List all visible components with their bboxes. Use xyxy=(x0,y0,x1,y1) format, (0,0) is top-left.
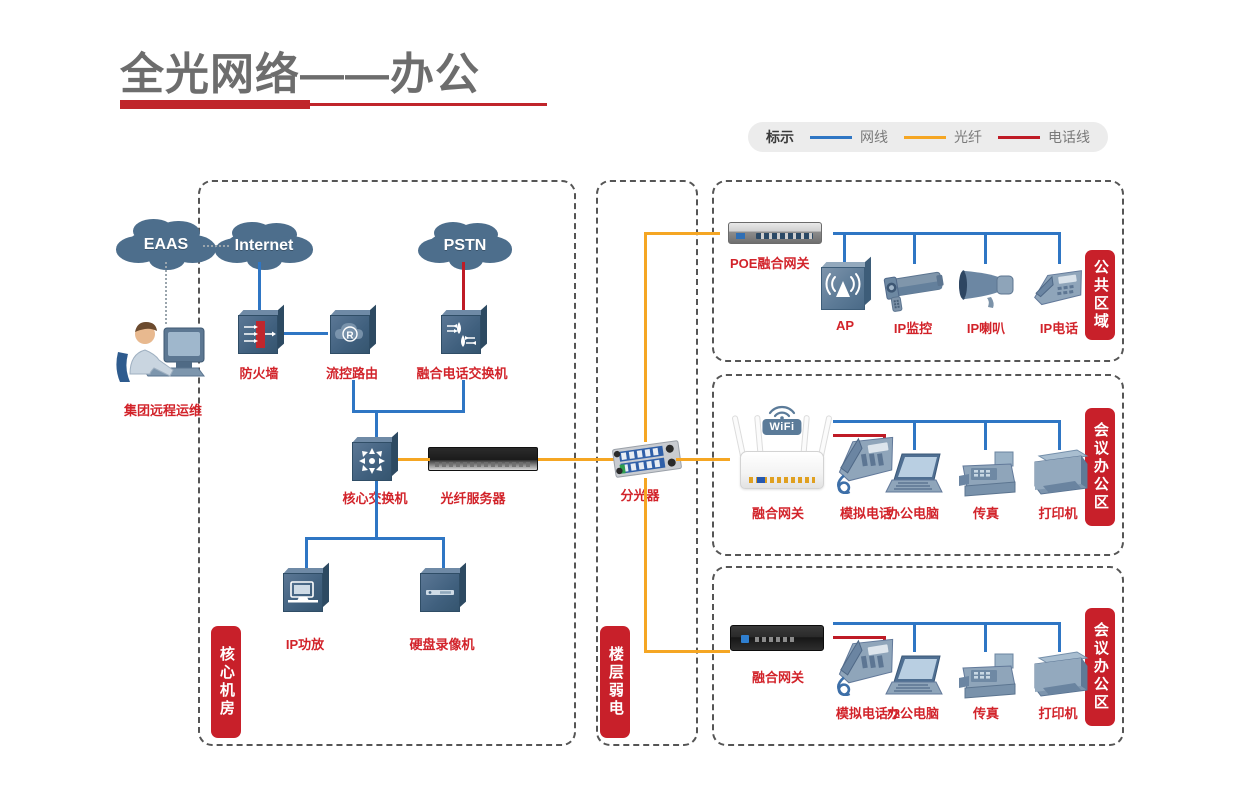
legend-swatch-ethernet xyxy=(810,136,852,139)
legend-item-fiber: 光纤 xyxy=(904,127,982,147)
ip-phone-icon xyxy=(1028,268,1090,314)
nvr-icon xyxy=(420,568,466,612)
laptop-icon xyxy=(880,450,948,498)
fiber-splitter-up xyxy=(644,232,647,442)
label-ap: AP xyxy=(836,318,854,333)
zone2-drop-pc xyxy=(913,420,916,450)
zone3-bus xyxy=(833,622,1061,625)
svg-text:R: R xyxy=(346,331,354,342)
zone1-drop-speak xyxy=(984,232,987,264)
badge-floor-weak-text: 楼层弱电 xyxy=(606,646,624,718)
badge-public-area-text: 公共区域 xyxy=(1091,259,1109,331)
zone1-drop-phone xyxy=(1058,232,1061,264)
link-pstn-phoneswitch xyxy=(462,262,465,310)
fiber-up-to-poe xyxy=(644,232,720,235)
firewall-icon xyxy=(238,310,284,354)
label-ip-phone: IP电话 xyxy=(1040,318,1078,337)
cloud-internet: Internet xyxy=(226,230,302,262)
fiber-server-splitter xyxy=(538,458,620,461)
zone2-bus xyxy=(833,420,1061,423)
label-remote-operator: 集团远程运维 xyxy=(124,400,202,419)
legend-label-ethernet: 网线 xyxy=(860,127,888,147)
legend-swatch-phone xyxy=(998,136,1040,139)
gateway-led xyxy=(741,635,749,643)
link-bus-ipamp xyxy=(305,537,308,570)
zone1-drop-cam xyxy=(913,232,916,264)
ip-amplifier-icon xyxy=(283,568,329,612)
cloud-pstn-label: PSTN xyxy=(444,237,487,255)
label-fiber-server: 光纤服务器 xyxy=(440,488,505,507)
title-underline-thick xyxy=(120,100,310,109)
core-switch-icon xyxy=(352,437,398,481)
fax-icon xyxy=(955,450,1021,498)
optical-splitter-icon xyxy=(610,440,684,478)
label-nvr: 硬盘录像机 xyxy=(409,634,474,653)
gateway-ports xyxy=(755,637,795,642)
legend-item-phone: 电话线 xyxy=(998,127,1090,147)
rack-ports xyxy=(435,462,531,467)
link-coreswitch-down xyxy=(375,481,378,539)
router-icon: R xyxy=(330,310,376,354)
label-firewall: 防火墙 xyxy=(239,363,278,382)
router-glyph: R xyxy=(330,315,370,354)
fiber-server-icon xyxy=(428,447,538,471)
cube-side xyxy=(392,432,398,476)
fusion-gateway-icon xyxy=(730,625,824,651)
cube-side xyxy=(370,305,376,349)
diagram-canvas: 全光网络——办公 标示 网线 光纤 电话线 核心机房 楼层弱电 公共区域 会议办… xyxy=(0,0,1238,796)
badge-meeting-area-2-text: 会议办公区 xyxy=(1091,622,1109,712)
core-switch-glyph xyxy=(352,442,392,481)
poe-gateway-icon xyxy=(728,222,822,244)
ip-speaker-icon xyxy=(955,262,1019,312)
laptop-icon xyxy=(880,652,948,700)
poe-ports xyxy=(756,233,813,239)
cube-side xyxy=(323,563,329,607)
fiber-splitter-down xyxy=(644,478,647,653)
badge-core-room-text: 核心机房 xyxy=(217,646,235,718)
legend-item-ethernet: 网线 xyxy=(810,127,888,147)
label-office-pc-z3: 办公电脑 xyxy=(887,703,939,722)
zone3-drop-pc xyxy=(913,622,916,652)
cube-side xyxy=(460,563,466,607)
cloud-internet-label: Internet xyxy=(235,237,294,255)
printer-icon xyxy=(1025,646,1093,700)
cloud-eaas-label: EAAS xyxy=(144,236,188,254)
cube-side xyxy=(865,257,871,305)
router-body xyxy=(740,451,824,489)
badge-core-room: 核心机房 xyxy=(211,626,241,738)
badge-meeting-area-1-text: 会议办公区 xyxy=(1091,422,1109,512)
label-fax-z3: 传真 xyxy=(973,703,999,722)
zone1-drop-ap xyxy=(843,232,846,264)
bus-lower xyxy=(305,537,445,540)
ap-signal-glyph xyxy=(821,267,865,310)
link-phoneswitch-down xyxy=(462,380,465,412)
label-poe-gateway: POE融合网关 xyxy=(730,253,809,272)
printer-icon xyxy=(1025,444,1093,498)
label-wifi-gateway: 融合网关 xyxy=(752,503,804,522)
label-office-pc-z2: 办公电脑 xyxy=(887,503,939,522)
link-router-down xyxy=(352,380,355,412)
label-ip-camera: IP监控 xyxy=(894,318,932,337)
zone1-bus xyxy=(833,232,1061,235)
legend-label-phone: 电话线 xyxy=(1048,127,1090,147)
link-internet-firewall xyxy=(258,262,261,310)
link-firewall-router xyxy=(281,332,328,335)
bus-upper xyxy=(352,410,465,413)
legend: 标示 网线 光纤 电话线 xyxy=(748,122,1108,152)
label-ip-amplifier: IP功放 xyxy=(286,634,324,653)
phone-switch-glyph xyxy=(441,315,481,354)
cube-side xyxy=(481,305,487,349)
cloud-eaas: EAAS xyxy=(127,228,205,262)
label-ip-speaker: IP喇叭 xyxy=(967,318,1005,337)
remote-operator-icon xyxy=(112,318,216,384)
zone3-drop-fax xyxy=(984,622,987,652)
ip-amplifier-glyph xyxy=(283,573,323,612)
label-fusion-gateway-z3: 融合网关 xyxy=(752,667,804,686)
legend-swatch-fiber xyxy=(904,136,946,139)
legend-label-fiber: 光纤 xyxy=(954,127,982,147)
fiber-down-to-gateway xyxy=(644,650,730,653)
label-analog-phone-z2: 模拟电话 xyxy=(840,503,892,522)
fax-icon xyxy=(955,652,1021,700)
link-eaas-operator-dotted xyxy=(165,262,167,324)
wifi-gateway-icon: WiFi xyxy=(730,403,834,489)
badge-floor-weak: 楼层弱电 xyxy=(600,626,630,738)
wifi-signal-icon xyxy=(766,401,798,419)
wifi-label-tag: WiFi xyxy=(762,419,801,435)
phone-switch-icon xyxy=(441,310,487,354)
label-printer-z2: 打印机 xyxy=(1038,503,1077,522)
legend-title: 标示 xyxy=(766,127,794,147)
wireless-ap-icon xyxy=(821,262,871,310)
link-bus-nvr xyxy=(442,537,445,570)
poe-uplink-port xyxy=(736,233,745,239)
fiber-coreswitch-server xyxy=(398,458,430,461)
page-title: 全光网络——办公 xyxy=(120,38,480,102)
label-printer-z3: 打印机 xyxy=(1038,703,1077,722)
link-eaas-internet-dotted xyxy=(203,245,229,247)
ip-camera-icon xyxy=(880,266,950,312)
nvr-glyph xyxy=(420,573,460,612)
title-underline-thin xyxy=(310,103,547,106)
cloud-pstn: PSTN xyxy=(428,230,502,262)
zone2-drop-fax xyxy=(984,420,987,450)
fiber-splitter-middle xyxy=(676,458,730,461)
label-optical-splitter: 分光器 xyxy=(620,485,659,504)
label-fax-z2: 传真 xyxy=(973,503,999,522)
router-wan-port xyxy=(757,477,765,483)
firewall-glyph xyxy=(238,315,278,354)
cube-side xyxy=(278,305,284,349)
